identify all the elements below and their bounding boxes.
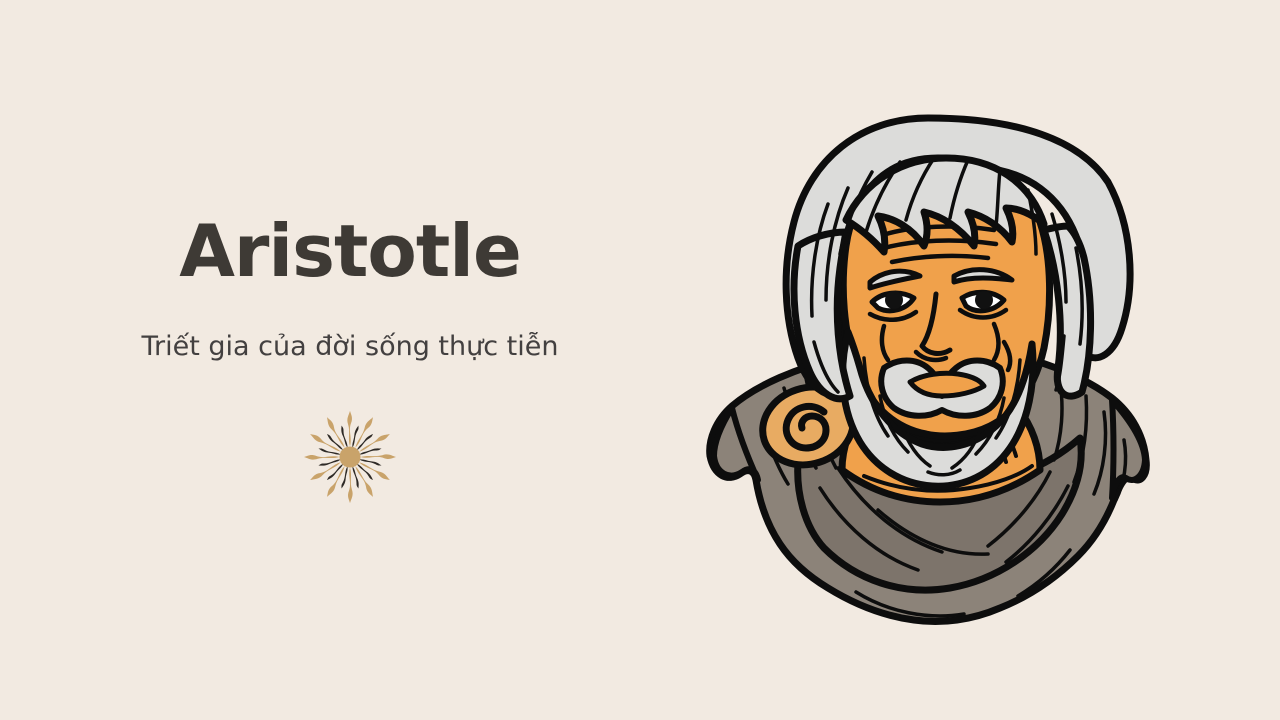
- sun-burst-icon: [302, 409, 398, 505]
- lips: [910, 373, 984, 396]
- slide-canvas: Aristotle Triết gia của đời sống thực ti…: [0, 0, 1280, 720]
- page-title: Aristotle: [179, 215, 521, 287]
- aristotle-portrait: [688, 96, 1168, 656]
- page-subtitle: Triết gia của đời sống thực tiễn: [142, 331, 559, 363]
- title-block: Aristotle Triết gia của đời sống thực ti…: [0, 0, 700, 720]
- aristotle-bust-illustration: [688, 96, 1168, 656]
